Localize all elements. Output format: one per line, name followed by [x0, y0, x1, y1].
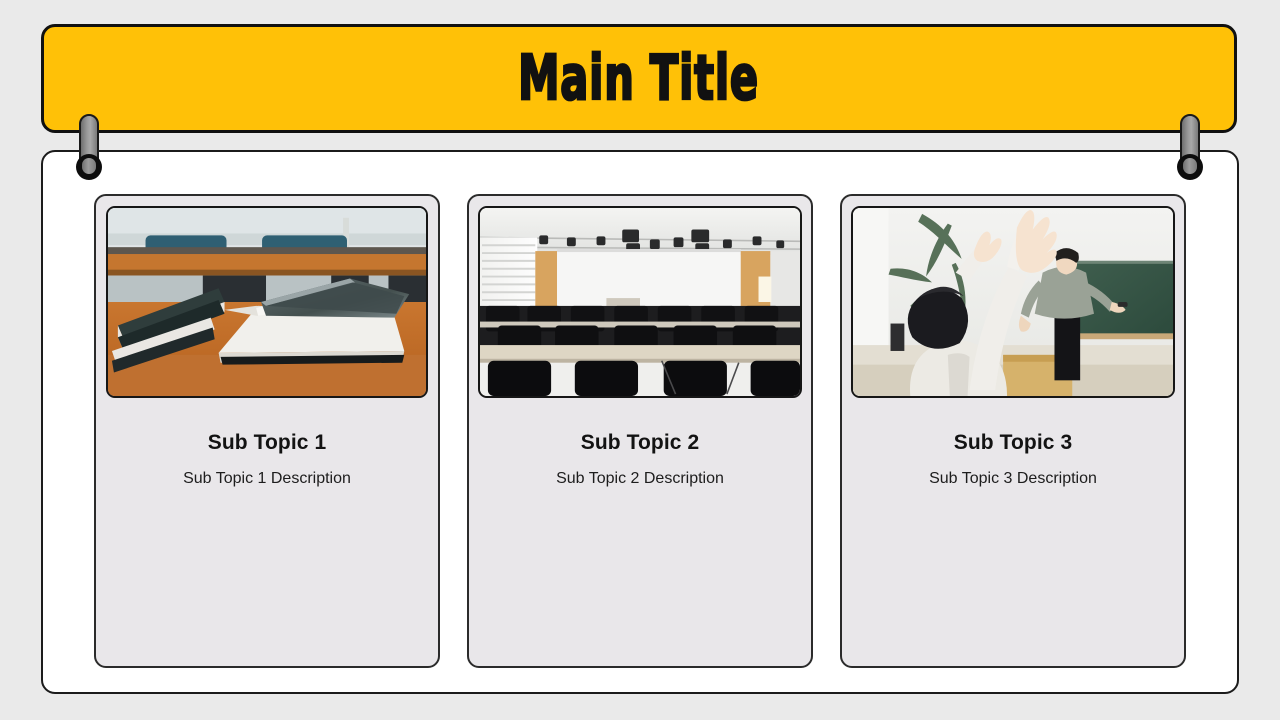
hanging-pin-left-icon [76, 114, 102, 180]
card-sub-topic-2[interactable]: Sub Topic 2 Sub Topic 2 Description [467, 194, 813, 668]
card-title: Sub Topic 3 [954, 431, 1073, 455]
books-and-tablet-photo [106, 206, 428, 398]
card-title: Sub Topic 1 [208, 431, 327, 455]
card-description: Sub Topic 2 Description [556, 470, 724, 488]
pin-knob [1177, 154, 1203, 180]
card-title: Sub Topic 2 [581, 431, 700, 455]
page-title: Main Title [519, 48, 760, 109]
hanging-pin-right-icon [1177, 114, 1203, 180]
card-sub-topic-3[interactable]: Sub Topic 3 Sub Topic 3 Description [840, 194, 1186, 668]
pin-knob-highlight [1183, 158, 1197, 174]
pin-knob-highlight [82, 158, 96, 174]
slide-canvas: Main Title [0, 0, 1280, 720]
title-banner: Main Title [41, 24, 1237, 133]
cards-row: Sub Topic 1 Sub Topic 1 Description [94, 194, 1186, 668]
card-description: Sub Topic 3 Description [929, 470, 1097, 488]
pin-knob [76, 154, 102, 180]
lecture-hall-photo [478, 206, 802, 398]
card-sub-topic-1[interactable]: Sub Topic 1 Sub Topic 1 Description [94, 194, 440, 668]
card-description: Sub Topic 1 Description [183, 470, 351, 488]
classroom-raised-hand-photo [851, 206, 1175, 398]
